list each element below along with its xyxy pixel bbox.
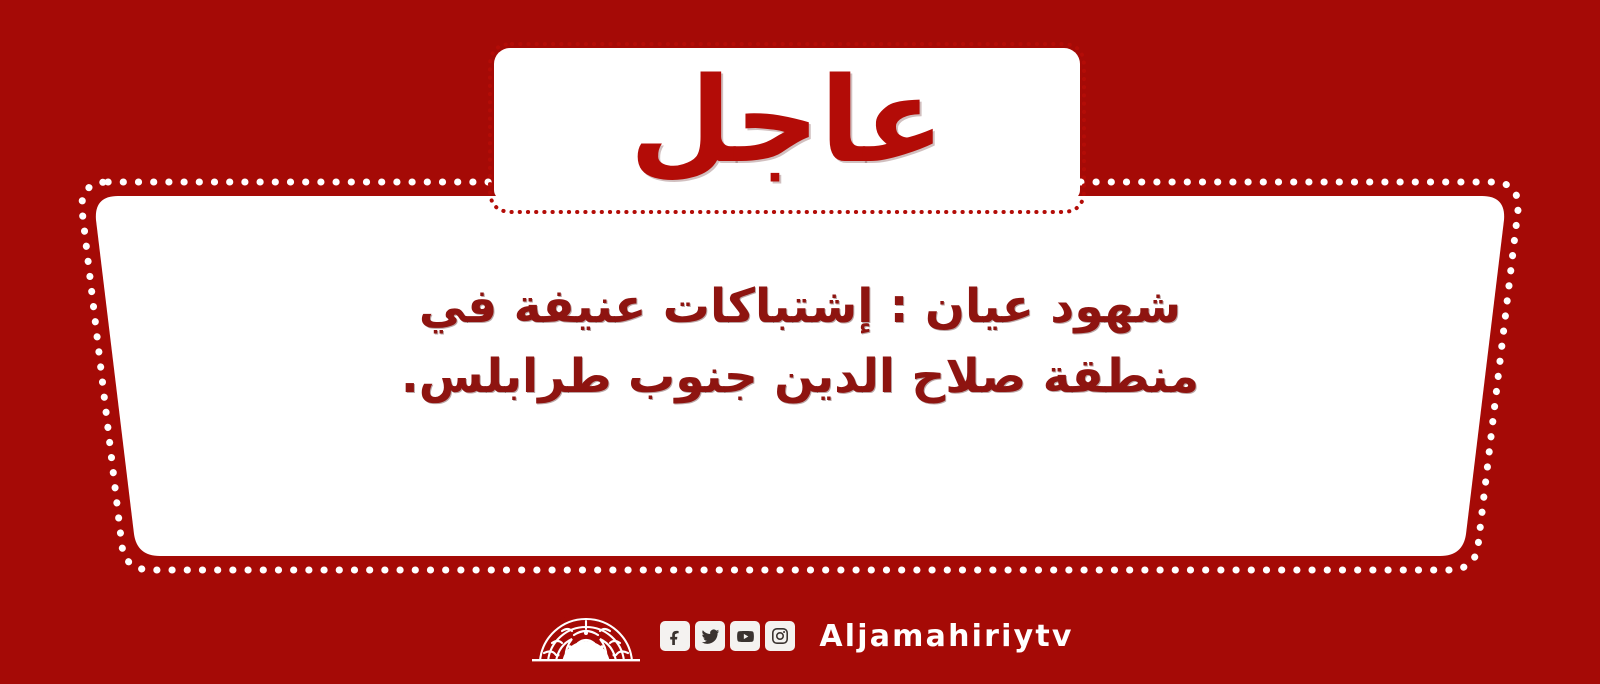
headline-card: شهود عيان : إشتباكات عنيفة في منطقة صلاح… xyxy=(78,180,1522,572)
instagram-icon[interactable] xyxy=(765,621,795,651)
facebook-icon[interactable] xyxy=(660,621,690,651)
brand-wordmark: Aljamahiriytv xyxy=(819,619,1073,654)
social-icon-row xyxy=(660,621,795,651)
news-card-stage: شهود عيان : إشتباكات عنيفة في منطقة صلاح… xyxy=(0,0,1600,684)
twitter-icon[interactable] xyxy=(695,621,725,651)
headline-line-2: منطقة صلاح الدين جنوب طرابلس. xyxy=(198,342,1402,412)
youtube-icon[interactable] xyxy=(730,621,760,651)
badge-label: عاجل xyxy=(494,48,1080,200)
footer-bar: Aljamahiriytv xyxy=(0,604,1600,668)
breaking-badge: عاجل xyxy=(494,48,1080,200)
headline-block: شهود عيان : إشتباكات عنيفة في منطقة صلاح… xyxy=(78,272,1522,411)
aljamahiriya-dome-logo-icon xyxy=(526,609,646,663)
headline-line-1: شهود عيان : إشتباكات عنيفة في xyxy=(198,272,1402,342)
